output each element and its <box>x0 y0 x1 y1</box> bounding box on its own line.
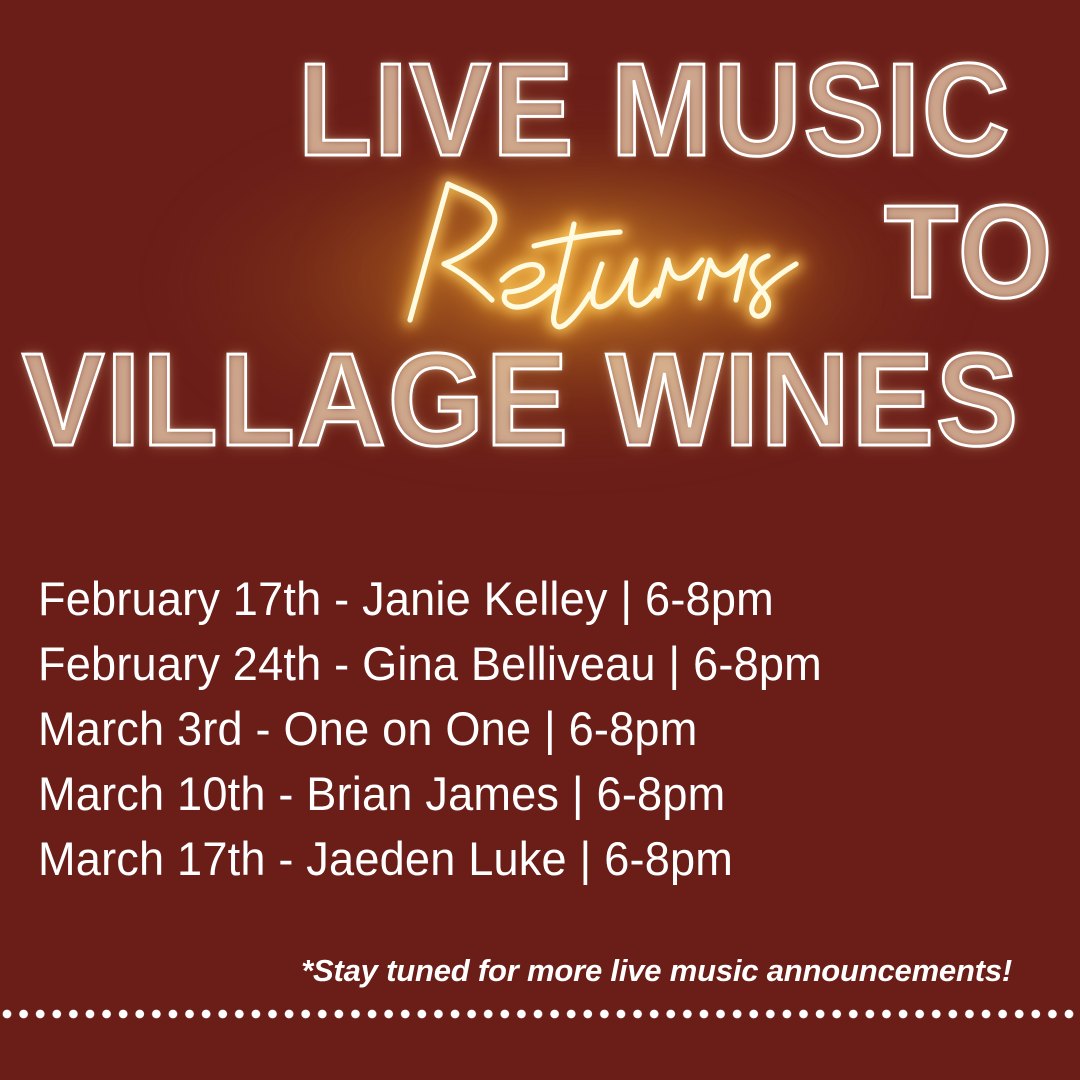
headline-line-2: VILLAGE WINES <box>22 334 1020 466</box>
list-item: February 17th - Janie Kelley | 6-8pm <box>38 566 1008 631</box>
neon-script-strokes <box>410 184 796 327</box>
headline-word-to: TO <box>884 186 1054 318</box>
schedule-list: February 17th - Janie Kelley | 6-8pm Feb… <box>38 566 1048 891</box>
footer-note: *Stay tuned for more live music announce… <box>0 952 1012 990</box>
dotted-divider <box>0 1006 1080 1022</box>
list-item: March 3rd - One on One | 6-8pm <box>38 696 1008 761</box>
neon-script-returns <box>352 168 852 340</box>
list-item: February 24th - Gina Belliveau | 6-8pm <box>38 631 1008 696</box>
headline-line-1: LIVE MUSIC <box>298 44 1011 176</box>
list-item: March 17th - Jaeden Luke | 6-8pm <box>38 826 1008 891</box>
list-item: March 10th - Brian James | 6-8pm <box>38 761 1008 826</box>
poster-canvas: LIVE MUSIC <box>0 0 1080 1080</box>
